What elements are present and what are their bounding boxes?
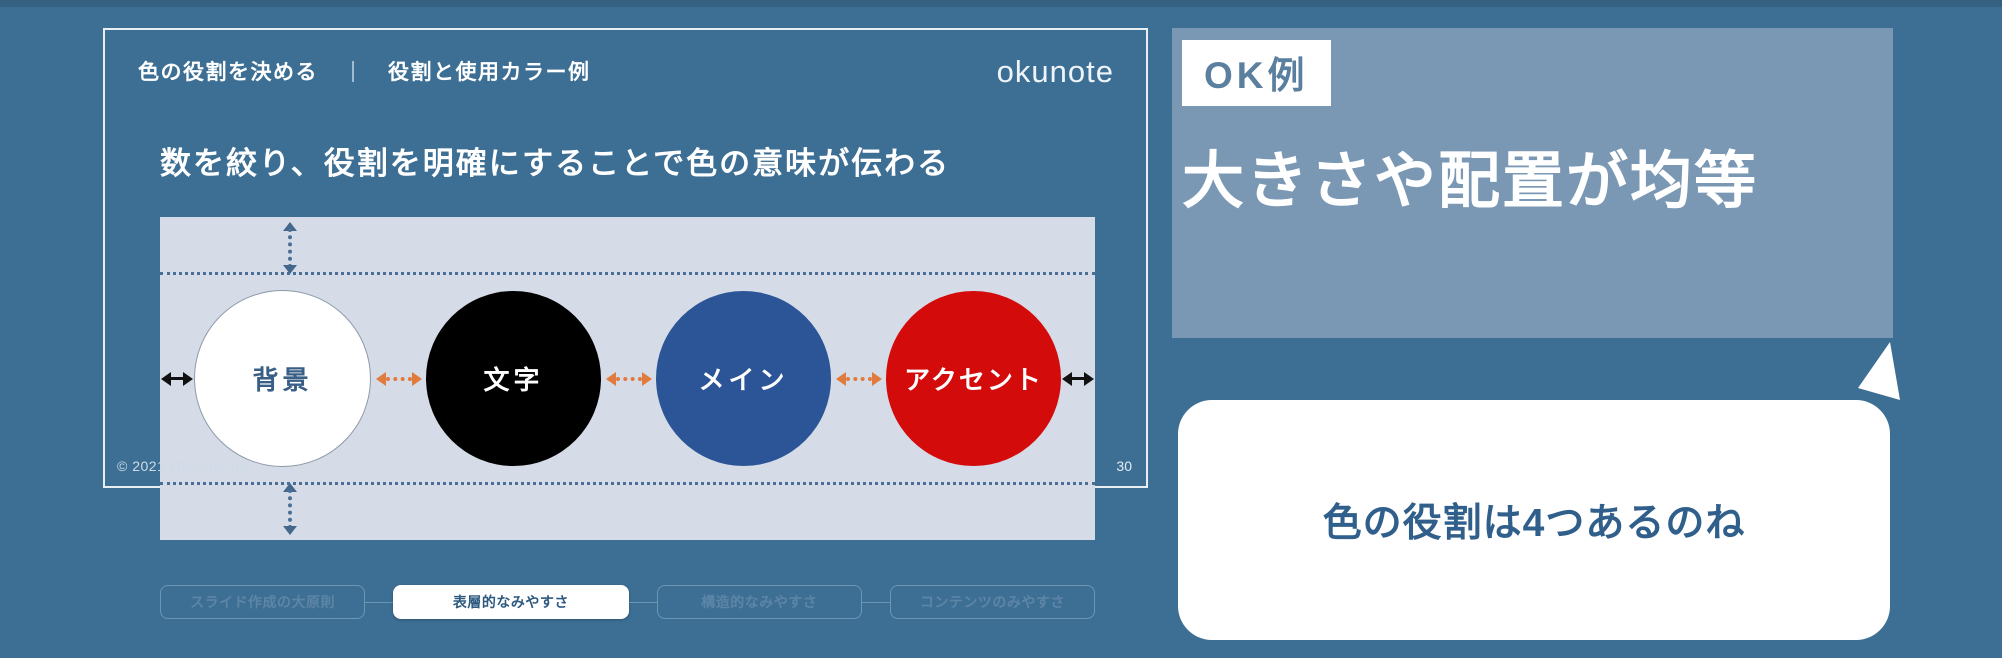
speech-bubble-tail-icon xyxy=(1838,342,1900,404)
brand-logo: okunote xyxy=(997,54,1114,90)
circle-label: メイン xyxy=(698,360,788,397)
arrow-down-icon xyxy=(283,526,297,535)
nav-connector xyxy=(862,602,890,603)
gap-measure-1 xyxy=(371,272,426,485)
orange-double-arrow-icon xyxy=(606,372,652,386)
circle-accent: アクセント xyxy=(886,291,1061,466)
nav-connector xyxy=(629,602,657,603)
copyright-text: © 2021 Okunote Inc. xyxy=(117,458,255,474)
nav-connector xyxy=(365,602,393,603)
circle-background: 背景 xyxy=(194,290,371,467)
gap-measure-2 xyxy=(601,272,656,485)
top-strip xyxy=(0,0,2002,7)
circle-row: 背景 文字 メイン xyxy=(160,272,1095,485)
slide-footer: © 2021 Okunote Inc. 30 xyxy=(105,458,1146,476)
black-double-arrow-icon xyxy=(161,372,193,386)
ok-example-badge: OK例 xyxy=(1182,40,1331,106)
left-edge-measure xyxy=(160,372,194,386)
circle-main: メイン xyxy=(656,291,831,466)
dashed-stem xyxy=(288,489,292,529)
slide-panel: 色の役割を決める 役割と使用カラー例 okunote 数を絞り、役割を明確にする… xyxy=(103,28,1148,488)
breadcrumb: 色の役割を決める 役割と使用カラー例 xyxy=(138,56,591,86)
gap-measure-3 xyxy=(831,272,886,485)
nav-pill-principles[interactable]: スライド作成の大原則 xyxy=(160,585,365,619)
slide-heading: 数を絞り、役割を明確にすることで色の意味が伝わる xyxy=(160,138,950,183)
orange-double-arrow-icon xyxy=(376,372,422,386)
speech-bubble: 色の役割は4つあるのね xyxy=(1178,400,1890,640)
speech-bubble-text: 色の役割は4つあるのね xyxy=(1323,492,1746,548)
chapter-nav: スライド作成の大原則 表層的なみやすさ 構造的なみやすさ コンテンツのみやすさ xyxy=(160,585,1095,619)
breadcrumb-section: 色の役割を決める xyxy=(138,56,318,86)
circle-label: アクセント xyxy=(904,360,1043,397)
color-role-diagram: 背景 文字 メイン xyxy=(160,217,1095,540)
black-double-arrow-icon xyxy=(1062,372,1094,386)
page-number: 30 xyxy=(1116,458,1132,474)
nav-pill-content[interactable]: コンテンツのみやすさ xyxy=(890,585,1095,619)
annotation-headline: 大きさや配置が均等 xyxy=(1182,130,1758,220)
nav-pill-surface[interactable]: 表層的なみやすさ xyxy=(393,585,629,619)
breadcrumb-topic: 役割と使用カラー例 xyxy=(388,56,591,86)
orange-double-arrow-icon xyxy=(836,372,882,386)
breadcrumb-separator xyxy=(352,61,354,82)
right-edge-measure xyxy=(1061,372,1095,386)
dashed-stem xyxy=(288,228,292,268)
nav-pill-structure[interactable]: 構造的なみやすさ xyxy=(657,585,862,619)
vertical-measure-arrow-bottom xyxy=(283,483,297,535)
circle-label: 文字 xyxy=(483,360,543,397)
vertical-measure-arrow-top xyxy=(283,222,297,274)
slide-header: 色の役割を決める 役割と使用カラー例 okunote xyxy=(105,56,1146,96)
circle-text: 文字 xyxy=(426,291,601,466)
circle-label: 背景 xyxy=(252,360,312,397)
